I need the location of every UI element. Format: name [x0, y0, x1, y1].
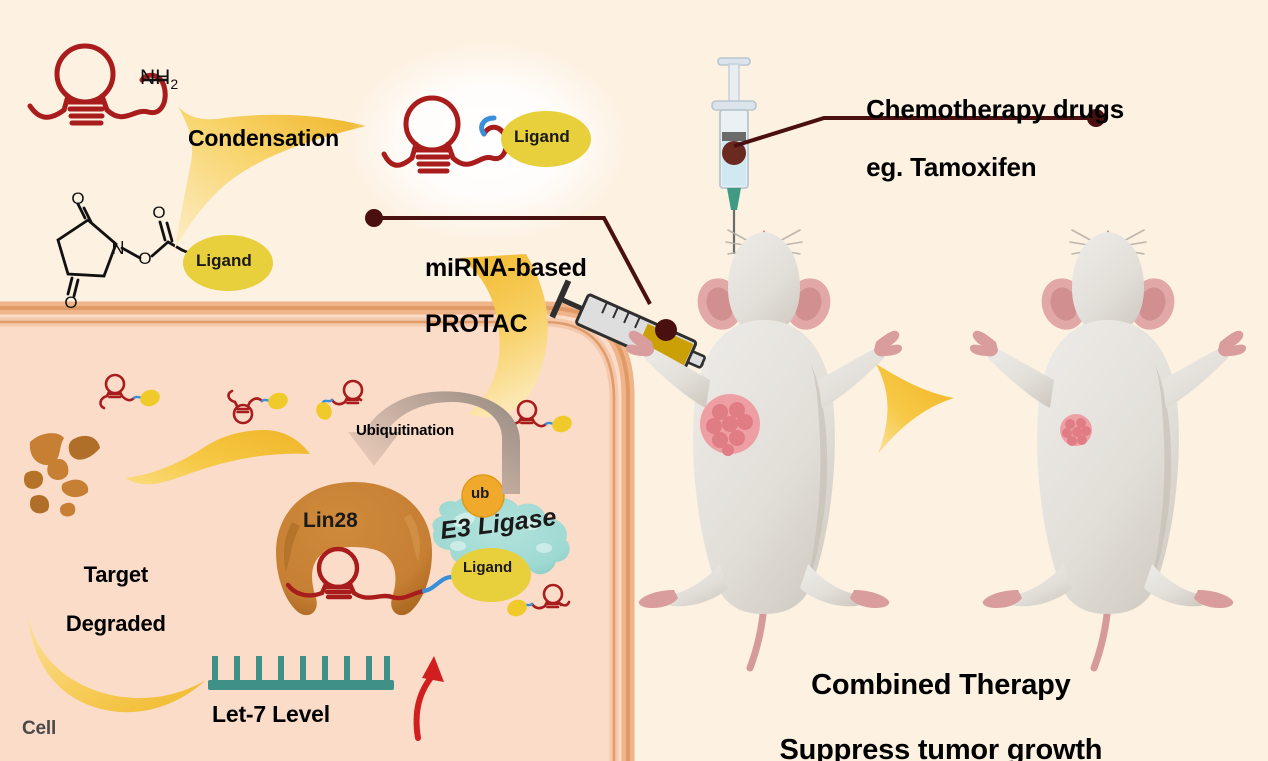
ligand-on-e3 — [448, 545, 534, 605]
ligand-pill-conjugate — [498, 108, 594, 170]
target-degraded-label: Target Degraded — [34, 538, 174, 661]
mouse-treated-right — [968, 212, 1248, 672]
tumor-small — [1060, 414, 1092, 446]
protac-particle — [98, 368, 108, 378]
protac-callout-line2: PROTAC — [425, 310, 528, 338]
nhs-carbonyl-oxygen: O — [152, 203, 165, 222]
chemo-callout-line2: eg. Tamoxifen — [866, 152, 1036, 182]
let7-bar — [206, 648, 396, 696]
chemo-callout-line1: Chemotherapy drugs — [866, 94, 1124, 124]
nhs-nitrogen: N — [112, 238, 125, 258]
arrow-between-mice — [866, 362, 976, 462]
nhs-ester-oxygen: O — [138, 249, 151, 268]
combined-therapy-label: Combined Therapy Suppress tumor growth — [748, 637, 1102, 761]
combined-therapy-line2: Suppress tumor growth — [779, 734, 1102, 761]
combined-therapy-line1: Combined Therapy — [811, 669, 1070, 701]
protac-particle — [96, 372, 160, 418]
nhs-oxygen-top: O — [71, 189, 84, 208]
condensation-label: Condensation — [188, 126, 339, 152]
protac-particle — [224, 388, 288, 434]
let7-increase-arrow — [404, 652, 456, 742]
chemo-callout-label: Chemotherapy drugs eg. Tamoxifen — [838, 66, 1124, 212]
target-degraded-line2: Degraded — [66, 611, 166, 636]
ubiquitination-label: Ubiquitination — [356, 423, 454, 440]
target-degraded-line1: Target — [84, 562, 148, 587]
ubiquitination-arrow — [342, 398, 532, 508]
mouse-treated-left — [624, 212, 904, 672]
nhs-oxygen-bottom: O — [64, 293, 77, 312]
cell-label: Cell — [22, 718, 56, 739]
figure-canvas: Lin28 E3 Ligase — [0, 0, 1268, 761]
let7-level-label: Let-7 Level — [212, 702, 330, 728]
protac-callout-line1: miRNA-based — [425, 254, 587, 282]
